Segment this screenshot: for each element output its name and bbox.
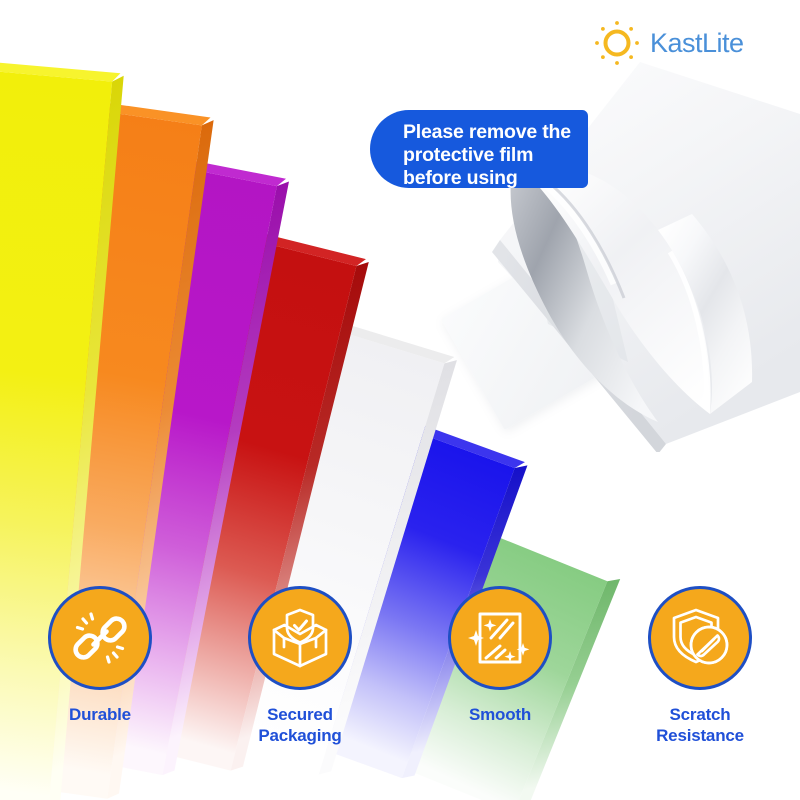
- secured-packaging-label: Secured Packaging: [258, 704, 341, 746]
- callout-line-1: Please remove the: [403, 121, 574, 144]
- scratch-resistance-label-line-2: Resistance: [656, 726, 744, 745]
- sun-icon: [592, 18, 642, 68]
- secured-packaging-label-line-2: Packaging: [258, 726, 341, 745]
- shiny-panel-icon: [467, 605, 533, 671]
- secured-packaging-badge[interactable]: [248, 586, 352, 690]
- scratch-resistance-label: Scratch Resistance: [656, 704, 744, 746]
- durable-badge[interactable]: [48, 586, 152, 690]
- brand-logo: KastLite: [592, 17, 782, 69]
- shield-blade-icon: [666, 604, 734, 672]
- scratch-resistance-badge[interactable]: [648, 586, 752, 690]
- chain-link-icon: [67, 605, 133, 671]
- feature-secured-packaging[interactable]: Secured Packaging: [205, 586, 395, 746]
- feature-smooth[interactable]: Smooth: [405, 586, 595, 725]
- brand-name: KastLite: [650, 28, 744, 59]
- feature-badge-row: Durable Secured: [0, 586, 800, 766]
- feature-scratch-resistance[interactable]: Scratch Resistance: [605, 586, 795, 746]
- protective-film-notice: Please remove the protective film before…: [370, 110, 588, 188]
- feature-durable[interactable]: Durable: [5, 586, 195, 725]
- smooth-badge[interactable]: [448, 586, 552, 690]
- secured-box-icon: [266, 604, 334, 672]
- callout-line-3: before using: [403, 167, 574, 190]
- scratch-resistance-label-line-1: Scratch: [670, 705, 731, 724]
- secured-packaging-label-line-1: Secured: [267, 705, 333, 724]
- smooth-label: Smooth: [469, 704, 531, 725]
- callout-line-2: protective film: [403, 144, 574, 167]
- product-marketing-image: Please remove the protective film before…: [0, 0, 800, 800]
- durable-label: Durable: [69, 704, 131, 725]
